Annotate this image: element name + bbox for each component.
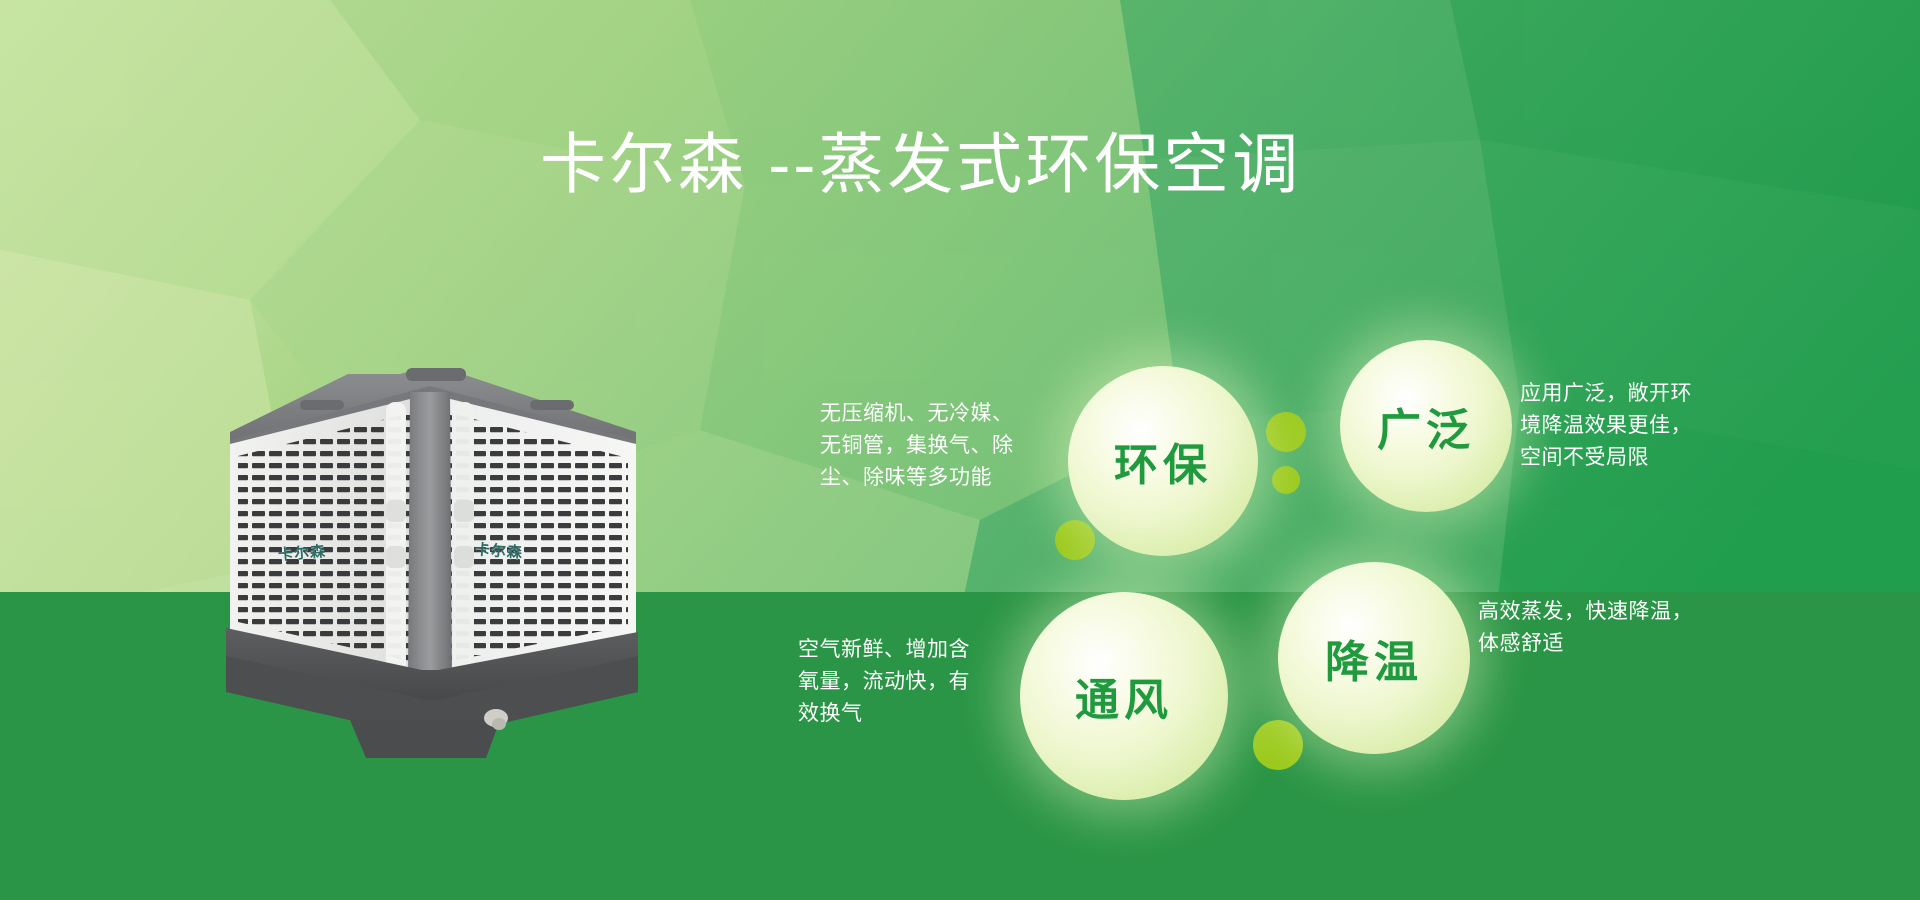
product-photo: 卡尔森 卡尔森 — [200, 340, 660, 760]
feature-caption-tongfeng: 空气新鲜、增加含 氧量，流动快，有 效换气 — [798, 634, 1018, 730]
feature-caption-guangfan: 应用广泛，敞开环 境降温效果更佳， 空间不受局限 — [1520, 378, 1750, 474]
accent-dot-2 — [1272, 466, 1300, 494]
feature-bubble-label: 通风 — [1075, 664, 1173, 728]
feature-bubble-guangfan[interactable]: 广泛 — [1340, 340, 1512, 512]
accent-dot-1 — [1266, 412, 1306, 452]
feature-bubble-huanbao[interactable]: 环保 — [1068, 366, 1258, 556]
feature-bubble-tongfeng[interactable]: 通风 — [1020, 592, 1228, 800]
feature-bubble-jiangwen[interactable]: 降温 — [1278, 562, 1470, 754]
product-brand-right: 卡尔森 — [474, 538, 523, 562]
feature-bubble-label: 降温 — [1325, 626, 1423, 690]
banner-title: 卡尔森 --蒸发式环保空调 — [540, 128, 1301, 201]
accent-dot-4 — [1253, 720, 1303, 770]
evaporative-air-cooler-icon — [200, 340, 660, 760]
feature-bubble-label: 环保 — [1114, 429, 1212, 493]
promo-banner: 卡尔森 --蒸发式环保空调 — [0, 0, 1920, 900]
feature-bubble-label: 广泛 — [1377, 394, 1475, 458]
accent-dot-3 — [1055, 520, 1095, 560]
product-brand-left: 卡尔森 — [277, 540, 327, 565]
feature-caption-jiangwen: 高效蒸发，快速降温， 体感舒适 — [1478, 596, 1748, 660]
feature-caption-huanbao: 无压缩机、无冷媒、 无铜管，集换气、除 尘、除味等多功能 — [820, 398, 1060, 494]
